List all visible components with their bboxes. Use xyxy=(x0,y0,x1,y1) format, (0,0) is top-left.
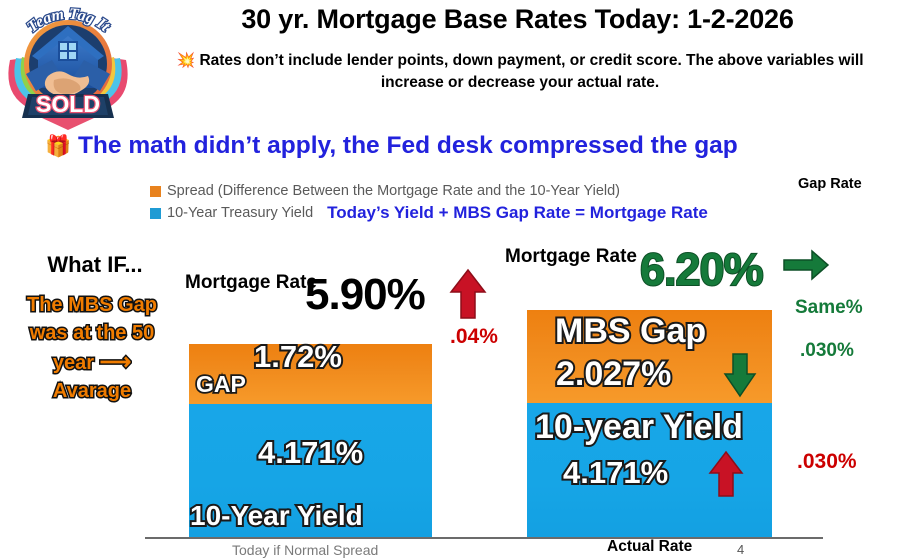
right-gap-label: MBS Gap xyxy=(555,312,706,351)
legend-label-spread: Spread (Difference Between the Mortgage … xyxy=(167,183,620,199)
boom-icon: 💥 xyxy=(176,52,195,69)
legend-label-yield: 10-Year Treasury Yield xyxy=(167,205,313,221)
legend-swatch-spread xyxy=(150,186,161,197)
right-gap-delta-note: .030% xyxy=(800,340,854,362)
left-mortgage-rate-value: 5.90% xyxy=(305,270,425,320)
what-if-label: What IF... xyxy=(20,252,170,278)
chart-axis-line xyxy=(145,537,823,539)
mbs-gap-annotation: The MBS Gap was at the 50 year ⟶ Avarage xyxy=(8,292,176,405)
page-title: 30 yr. Mortgage Base Rates Today: 1-2-20… xyxy=(140,4,895,35)
disclaimer-text: 💥 Rates don’t include lender points, dow… xyxy=(170,50,870,95)
slide-number: 4 xyxy=(737,542,744,557)
right-mortgage-rate-label: Mortgage Rate xyxy=(505,246,635,267)
legend-swatch-yield xyxy=(150,208,161,219)
right-mortgage-rate-value: 6.20% xyxy=(640,244,763,296)
category-label-right: Actual Rate xyxy=(607,538,692,556)
slide-canvas: SOLD Team Tag It 30 yr. Mortgage Base Ra… xyxy=(0,0,900,560)
category-label-left: Today if Normal Spread xyxy=(232,542,378,558)
arrow-up-red-icon xyxy=(708,450,744,498)
arrow-down-green-icon xyxy=(723,352,757,398)
left-yield-label: 10-Year Yield xyxy=(190,500,363,532)
gap-rate-label: Gap Rate xyxy=(798,176,862,192)
mbs-gap-line4: Avarage xyxy=(53,380,131,402)
right-yield-delta-note: .030% xyxy=(797,450,857,474)
mbs-gap-line3: year xyxy=(53,352,94,374)
disclaimer-body: Rates don’t include lender points, down … xyxy=(199,52,863,91)
mbs-gap-line1: The MBS Gap xyxy=(27,294,157,316)
left-gap-value: 1.72% xyxy=(254,339,342,375)
left-gap-label: GAP xyxy=(196,371,246,398)
arrow-right-icon: ⟶ xyxy=(100,349,132,374)
left-delta-note: .04% xyxy=(450,325,498,349)
logo-sold-text: SOLD xyxy=(36,91,100,117)
right-yield-label: 10-year Yield xyxy=(535,408,743,447)
right-gap-value: 2.027% xyxy=(556,355,671,394)
formula-text: Today’s Yield + MBS Gap Rate = Mortgage … xyxy=(327,203,708,223)
headline-text: The math didn’t apply, the Fed desk comp… xyxy=(78,132,738,159)
arrow-up-red-icon xyxy=(448,268,488,320)
chart-legend: Spread (Difference Between the Mortgage … xyxy=(150,180,708,224)
team-tag-it-logo: SOLD Team Tag It xyxy=(2,2,134,132)
arrow-right-green-icon xyxy=(782,248,830,282)
gift-icon: 🎁 xyxy=(45,135,71,158)
right-same-note: Same% xyxy=(795,297,863,319)
right-yield-value: 4.171% xyxy=(563,455,668,491)
legend-item-spread: Spread (Difference Between the Mortgage … xyxy=(150,180,708,202)
headline-banner: 🎁 The math didn’t apply, the Fed desk co… xyxy=(45,132,875,160)
mbs-gap-line2: was at the 50 xyxy=(30,322,155,344)
legend-item-yield: 10-Year Treasury Yield Today’s Yield + M… xyxy=(150,202,708,224)
left-mortgage-rate-label: Mortgage Rate xyxy=(185,272,315,293)
left-yield-value: 4.171% xyxy=(258,435,363,471)
